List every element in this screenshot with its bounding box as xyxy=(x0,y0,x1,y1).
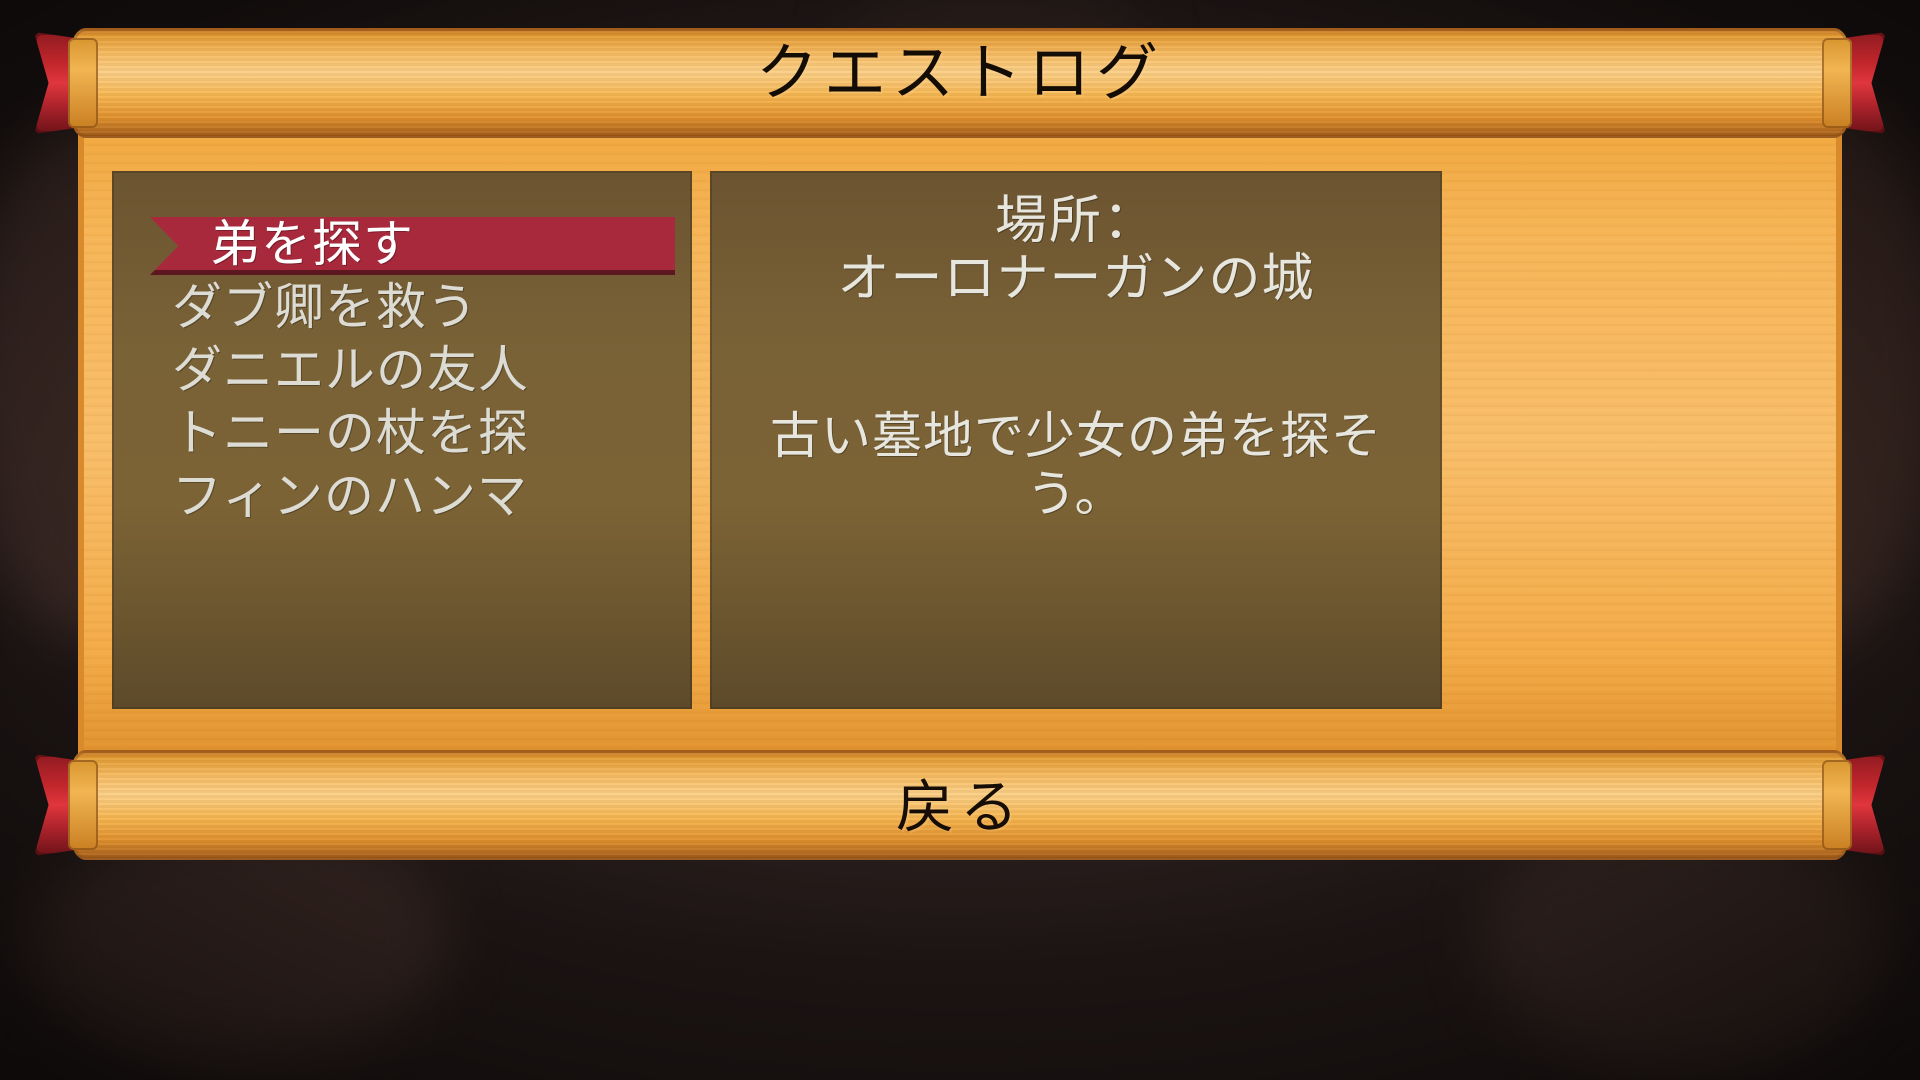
quest-list-item-label: ダニエルの友人 xyxy=(126,339,529,402)
quest-list[interactable]: 弟を探す ダブ卿を救う ダニエルの友人 トニーの杖を探 フィンのハンマ xyxy=(112,213,692,528)
quest-detail-panel: 場所： オーロナーガンの城 古い墓地で少女の弟を探そう。 xyxy=(710,171,1442,709)
back-button[interactable]: 戻る xyxy=(0,778,1920,836)
quest-log-scroll-panel: クエストログ 弟を探す ダブ卿を救う ダニエルの友人 トニーの杖を探 フィンのハ… xyxy=(0,8,1920,1068)
quest-list-panel: 弟を探す ダブ卿を救う ダニエルの友人 トニーの杖を探 フィンのハンマ xyxy=(112,171,692,709)
quest-list-item-label: フィンのハンマ xyxy=(126,465,528,528)
quest-list-item-1[interactable]: ダブ卿を救う xyxy=(112,276,692,339)
quest-location-label: 場所： xyxy=(726,193,1426,249)
quest-detail-content: 場所： オーロナーガンの城 古い墓地で少女の弟を探そう。 xyxy=(726,193,1426,523)
quest-list-item-2[interactable]: ダニエルの友人 xyxy=(112,339,692,402)
page-title: クエストログ xyxy=(0,42,1920,104)
quest-list-item-0[interactable]: 弟を探す xyxy=(112,213,692,276)
quest-list-item-label: ダブ卿を救う xyxy=(126,276,478,339)
quest-list-item-label: トニーの杖を探 xyxy=(126,402,529,465)
quest-description-text: 古い墓地で少女の弟を探そう。 xyxy=(726,407,1426,523)
quest-list-item-4[interactable]: フィンのハンマ xyxy=(112,465,692,528)
quest-location-value: オーロナーガンの城 xyxy=(726,251,1426,307)
quest-list-item-label: 弟を探す xyxy=(126,213,414,276)
quest-list-item-3[interactable]: トニーの杖を探 xyxy=(112,402,692,465)
